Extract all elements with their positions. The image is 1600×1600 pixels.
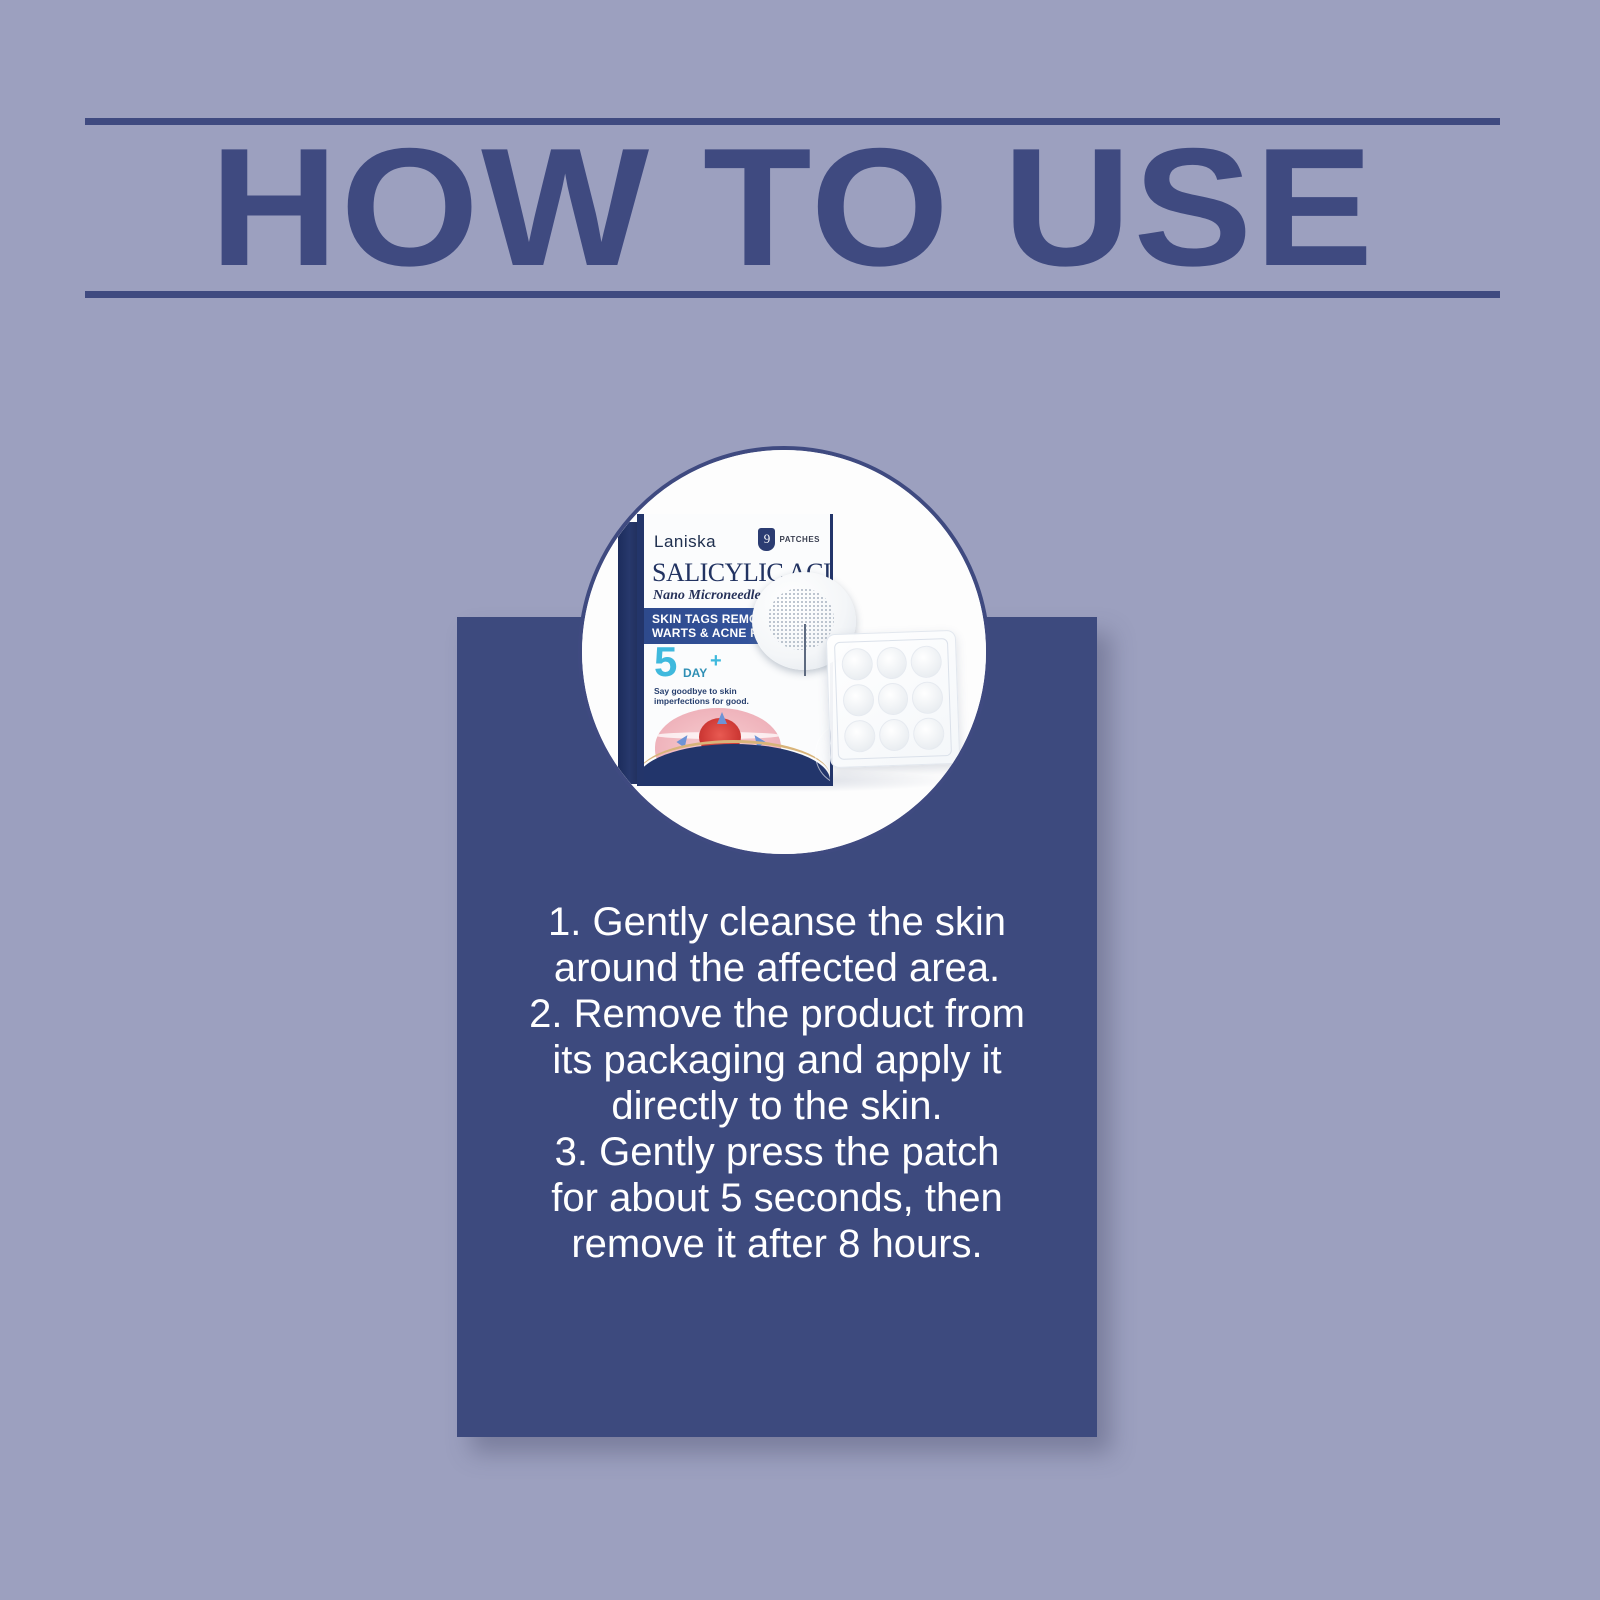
- instruction-line: its packaging and apply it: [481, 1038, 1073, 1083]
- instruction-line: 1. Gently cleanse the skin: [481, 900, 1073, 945]
- patch-dot: [912, 681, 944, 714]
- patch-dot: [842, 684, 874, 717]
- instruction-line: for about 5 seconds, then: [481, 1176, 1073, 1221]
- duration-graphic: 5 DAY +: [654, 646, 728, 682]
- penetration-arrow-icon: [717, 712, 727, 724]
- patch-count-badge: 9 PATCHES: [758, 528, 820, 551]
- product-image-circle: Laniska 9 PATCHES SALICYLIC ACID Nano Mi…: [578, 446, 990, 858]
- page-header: HOW TO USE: [85, 118, 1500, 298]
- patch-pointer-line: [804, 624, 806, 676]
- patch-dot: [876, 646, 908, 679]
- box-side-panel: [618, 522, 637, 784]
- patch-dot: [877, 682, 909, 715]
- duration-number: 5: [654, 641, 677, 683]
- instruction-line: 2. Remove the product from: [481, 992, 1073, 1037]
- instruction-line: 3. Gently press the patch: [481, 1130, 1073, 1175]
- patch-dot: [911, 645, 943, 678]
- instruction-line: directly to the skin.: [481, 1084, 1073, 1129]
- brand-name: Laniska: [654, 532, 716, 552]
- instruction-line: around the affected area.: [481, 946, 1073, 991]
- product-tagline: Say goodbye to skin imperfections for go…: [654, 686, 764, 706]
- patch-dot: [913, 717, 945, 750]
- patch-grid: [841, 645, 945, 752]
- microneedle-dots-texture: [768, 588, 834, 650]
- patch-dot: [841, 648, 873, 681]
- page-title: HOW TO USE: [43, 124, 1543, 291]
- shield-icon: 9: [758, 528, 775, 551]
- patch-dot: [844, 720, 876, 753]
- instruction-list: 1. Gently cleanse the skin around the af…: [457, 900, 1097, 1268]
- product-photo: Laniska 9 PATCHES SALICYLIC ACID Nano Mi…: [582, 450, 986, 854]
- patch-count-label: PATCHES: [779, 535, 820, 544]
- patch-tray: [826, 630, 961, 768]
- instruction-line: remove it after 8 hours.: [481, 1222, 1073, 1267]
- duration-word: DAY: [683, 666, 707, 680]
- patch-dot: [878, 718, 910, 751]
- header-rule-bottom: [85, 291, 1500, 298]
- plus-icon: +: [710, 652, 722, 670]
